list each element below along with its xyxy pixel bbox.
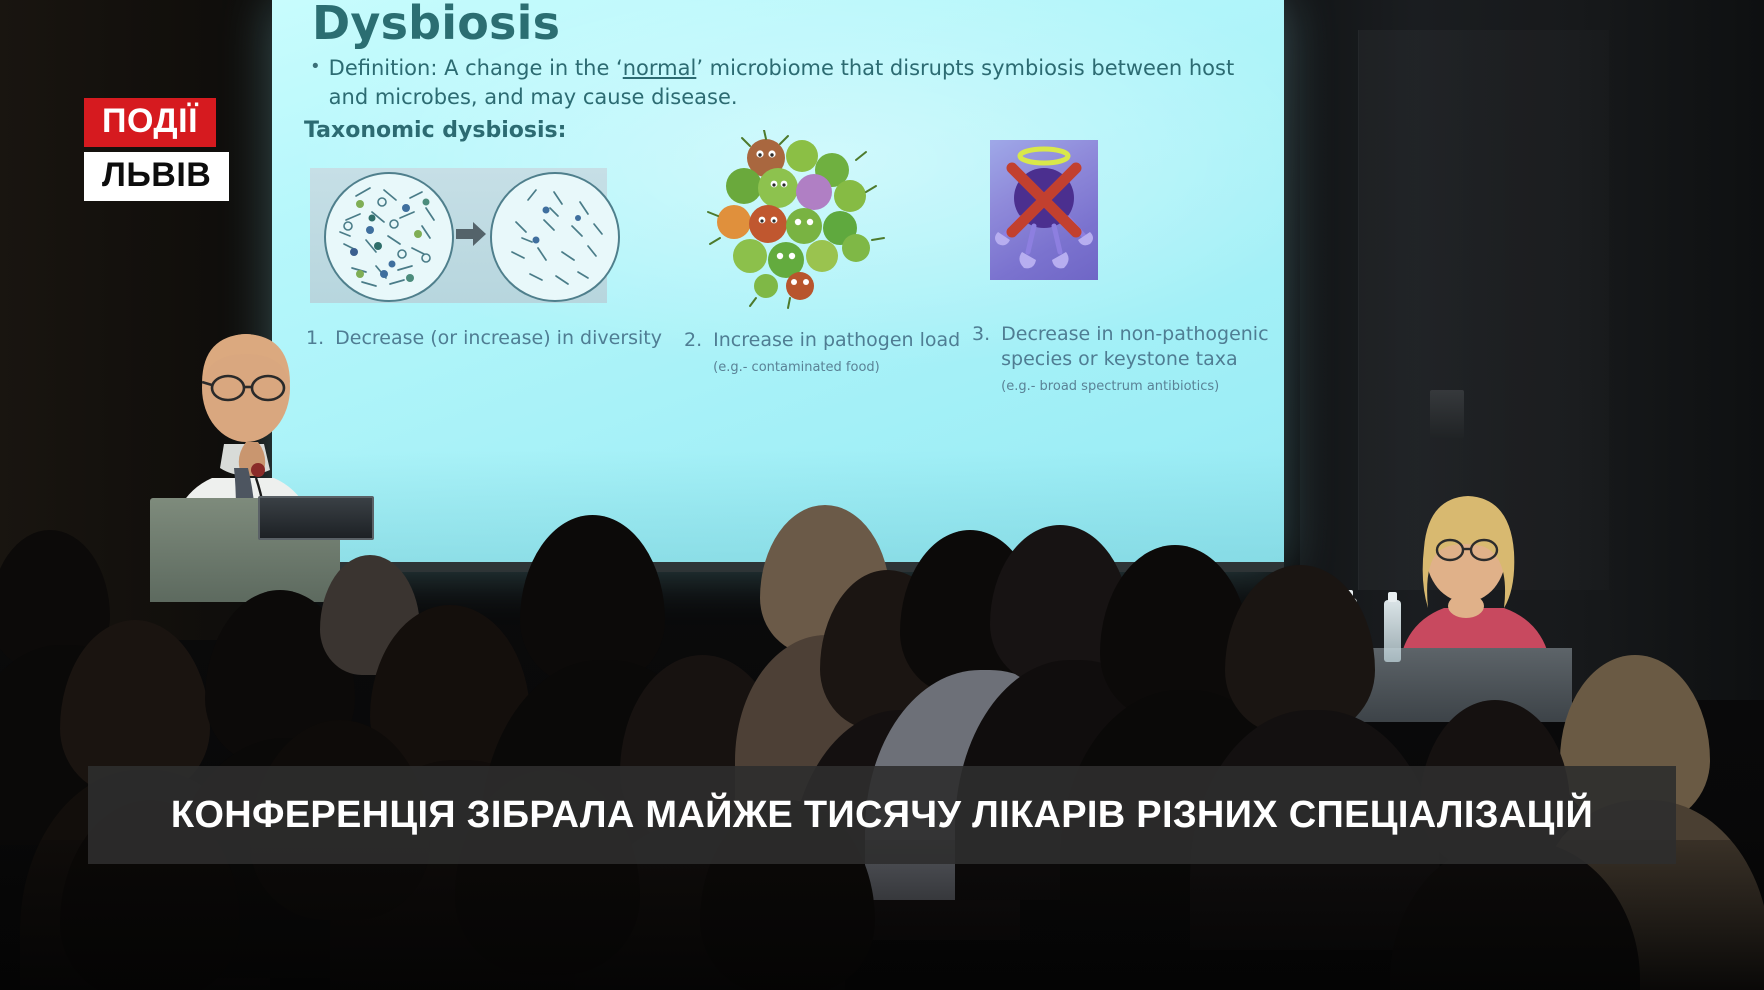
- slide-list-item-2-number: 2.: [684, 328, 702, 380]
- location-badge-label: ЛЬВІВ: [102, 158, 211, 192]
- slide-list-item-2-text: Increase in pathogen load (e.g.- contami…: [713, 328, 984, 380]
- slide-list-item-2-main: Increase in pathogen load: [713, 329, 960, 351]
- crossed-out-microbe-graphic: [990, 140, 1098, 280]
- news-caption-bar: КОНФЕРЕНЦІЯ ЗІБРАЛА МАЙЖЕ ТИСЯЧУ ЛІКАРІВ…: [88, 766, 1676, 864]
- crossed-out-microbe-figure: [990, 140, 1098, 280]
- normal-underline: normal: [623, 56, 697, 80]
- broadcast-frame: Dysbiosis • Definition: A change in the …: [0, 0, 1764, 990]
- slide-section-label: Taxonomic dysbiosis:: [304, 118, 566, 143]
- slide-list-item-2: 2. Increase in pathogen load (e.g.- cont…: [684, 328, 984, 380]
- slide-list-item-3-note: (e.g.- broad spectrum antibiotics): [1001, 379, 1219, 394]
- bullet-dot-icon: •: [312, 54, 319, 112]
- news-caption-text: КОНФЕРЕНЦІЯ ЗІБРАЛА МАЙЖЕ ТИСЯЧУ ЛІКАРІВ…: [171, 794, 1593, 837]
- slide-list-item-3-main: Decrease in non-pathogenic species or ke…: [1001, 323, 1268, 370]
- channel-badge: ПОДІЇ: [84, 98, 216, 147]
- petri-dish-contents-sparse: [492, 174, 618, 300]
- petri-dish-high-diversity: [324, 172, 454, 302]
- wall-panel: [1430, 390, 1464, 438]
- slide-definition-bullet: • Definition: A change in the ‘normal’ m…: [312, 54, 1252, 112]
- slide-list-item-3-number: 3.: [972, 322, 990, 399]
- transition-arrow-icon: [456, 220, 486, 248]
- slide-definition-text: Definition: A change in the ‘normal’ mic…: [329, 54, 1252, 112]
- slide-list-item-2-note: (e.g.- contaminated food): [713, 360, 880, 375]
- petri-dish-diversity-figure: [310, 168, 607, 303]
- petri-dish-contents-dense: [326, 174, 452, 300]
- slide-list-item-3: 3. Decrease in non-pathogenic species or…: [972, 322, 1272, 399]
- channel-badge-label: ПОДІЇ: [102, 104, 198, 138]
- location-badge: ЛЬВІВ: [84, 152, 229, 201]
- slide-title: Dysbiosis: [312, 0, 560, 50]
- microbe-cluster-figure: [704, 130, 894, 310]
- slide-list-item-3-text: Decrease in non-pathogenic species or ke…: [1001, 322, 1272, 399]
- slide-numbered-list: 1. Decrease (or increase) in diversity 2…: [272, 326, 1284, 406]
- slide-list-item-1-text: Decrease (or increase) in diversity: [335, 326, 662, 351]
- petri-dish-low-diversity: [490, 172, 620, 302]
